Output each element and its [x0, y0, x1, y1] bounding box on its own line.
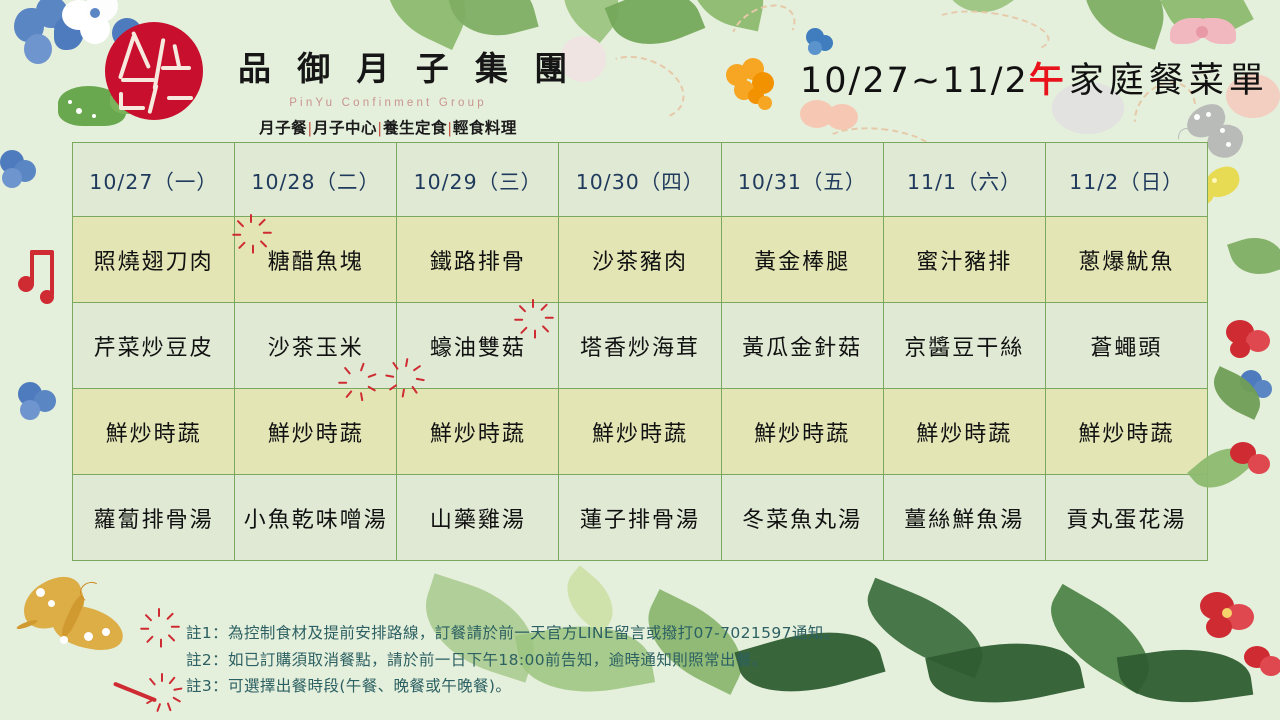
menu-cell: 蜜汁豬排: [883, 217, 1045, 303]
menu-cell: 塔香炒海茸: [559, 303, 721, 389]
page-header: 品 御 月 子 集 團 PinYu Confinment Group 月子餐|月…: [0, 0, 1280, 140]
leaf-icon: [854, 578, 996, 679]
menu-cell: 鮮炒時蔬: [397, 389, 559, 475]
leaf-icon: [1034, 584, 1167, 694]
menu-cell: 鮮炒時蔬: [559, 389, 721, 475]
note-1: 註1：為控制食材及提前安排路線，訂餐請於前一天官方LINE留言或撥打07-702…: [186, 620, 840, 647]
menu-cell: 冬菜魚丸湯: [721, 475, 883, 561]
table-row-vegetable: 鮮炒時蔬 鮮炒時蔬 鮮炒時蔬 鮮炒時蔬 鮮炒時蔬 鮮炒時蔬 鮮炒時蔬: [73, 389, 1208, 475]
note-2: 註2：如已訂購須取消餐點，請於前一日下午18:00前告知，逾時通知則照常出餐。: [186, 647, 840, 674]
title-date-range: 10/27~11/2: [800, 61, 1029, 101]
brand-logo-icon: [105, 22, 203, 120]
notes-block: 註1：為控制食材及提前安排路線，訂餐請於前一天官方LINE留言或撥打07-702…: [186, 620, 840, 700]
title-meal-highlight: 午: [1029, 61, 1069, 101]
table-row-main-dish: 照燒翅刀肉 糖醋魚塊 鐵路排骨 沙茶豬肉 黃金棒腿 蜜汁豬排 蔥爆魷魚: [73, 217, 1208, 303]
leaf-icon: [925, 627, 1085, 719]
brand-name-cn: 品 御 月 子 集 團: [238, 42, 538, 90]
table-row-soup: 蘿蔔排骨湯 小魚乾味噌湯 山藥雞湯 蓮子排骨湯 冬菜魚丸湯 薑絲鮮魚湯 貢丸蛋花…: [73, 475, 1208, 561]
menu-cell: 山藥雞湯: [397, 475, 559, 561]
menu-cell: 鮮炒時蔬: [883, 389, 1045, 475]
column-header-sun: 11/2（日）: [1045, 143, 1207, 217]
menu-cell: 鮮炒時蔬: [1045, 389, 1207, 475]
menu-cell: 貢丸蛋花湯: [1045, 475, 1207, 561]
column-header-wed: 10/29（三）: [397, 143, 559, 217]
menu-cell: 京醬豆干絲: [883, 303, 1045, 389]
column-header-sat: 11/1（六）: [883, 143, 1045, 217]
column-header-mon: 10/27（一）: [73, 143, 235, 217]
menu-cell: 蓮子排骨湯: [559, 475, 721, 561]
leaf-icon: [1117, 639, 1254, 713]
table-row-side-dish: 芹菜炒豆皮 沙茶玉米 蠔油雙菇 塔香炒海茸 黃瓜金針菇 京醬豆干絲 蒼蠅頭: [73, 303, 1208, 389]
column-header-thu: 10/30（四）: [559, 143, 721, 217]
menu-cell: 小魚乾味噌湯: [235, 475, 397, 561]
menu-cell: 蠔油雙菇: [397, 303, 559, 389]
menu-cell: 薑絲鮮魚湯: [883, 475, 1045, 561]
menu-cell: 鐵路排骨: [397, 217, 559, 303]
note-3: 註3：可選擇出餐時段(午餐、晚餐或午晚餐)。: [186, 673, 840, 700]
menu-cell: 蘿蔔排骨湯: [73, 475, 235, 561]
menu-cell: 鮮炒時蔬: [235, 389, 397, 475]
menu-cell: 鮮炒時蔬: [721, 389, 883, 475]
brand-services: 月子餐|月子中心|養生定食|輕食料理: [238, 116, 538, 138]
menu-cell: 黃瓜金針菇: [721, 303, 883, 389]
leaf-icon: [1205, 366, 1268, 420]
column-header-fri: 10/31（五）: [721, 143, 883, 217]
menu-cell: 黃金棒腿: [721, 217, 883, 303]
menu-cell: 芹菜炒豆皮: [73, 303, 235, 389]
table-header-row: 10/27（一） 10/28（二） 10/29（三） 10/30（四） 10/3…: [73, 143, 1208, 217]
column-header-tue: 10/28（二）: [235, 143, 397, 217]
brand-service-3: 養生定食: [383, 120, 447, 137]
menu-table: 10/27（一） 10/28（二） 10/29（三） 10/30（四） 10/3…: [72, 142, 1208, 561]
leaf-icon: [1227, 229, 1280, 282]
brand-service-1: 月子餐: [259, 120, 307, 137]
menu-cell: 鮮炒時蔬: [73, 389, 235, 475]
red-burst-icon: [146, 604, 172, 630]
page-title: 10/27~11/2午家庭餐菜單: [800, 52, 1269, 103]
menu-cell: 沙茶豬肉: [559, 217, 721, 303]
menu-cell: 糖醋魚塊: [235, 217, 397, 303]
brand-service-2: 月子中心: [313, 120, 377, 137]
brand-service-4: 輕食料理: [453, 120, 517, 137]
brand-name-en: PinYu Confinment Group: [238, 97, 538, 109]
menu-cell: 蔥爆魷魚: [1045, 217, 1207, 303]
brand-block: 品 御 月 子 集 團 PinYu Confinment Group 月子餐|月…: [238, 42, 538, 138]
menu-cell: 沙茶玉米: [235, 303, 397, 389]
title-rest: 家庭餐菜單: [1069, 61, 1269, 101]
menu-cell: 照燒翅刀肉: [73, 217, 235, 303]
menu-cell: 蒼蠅頭: [1045, 303, 1207, 389]
